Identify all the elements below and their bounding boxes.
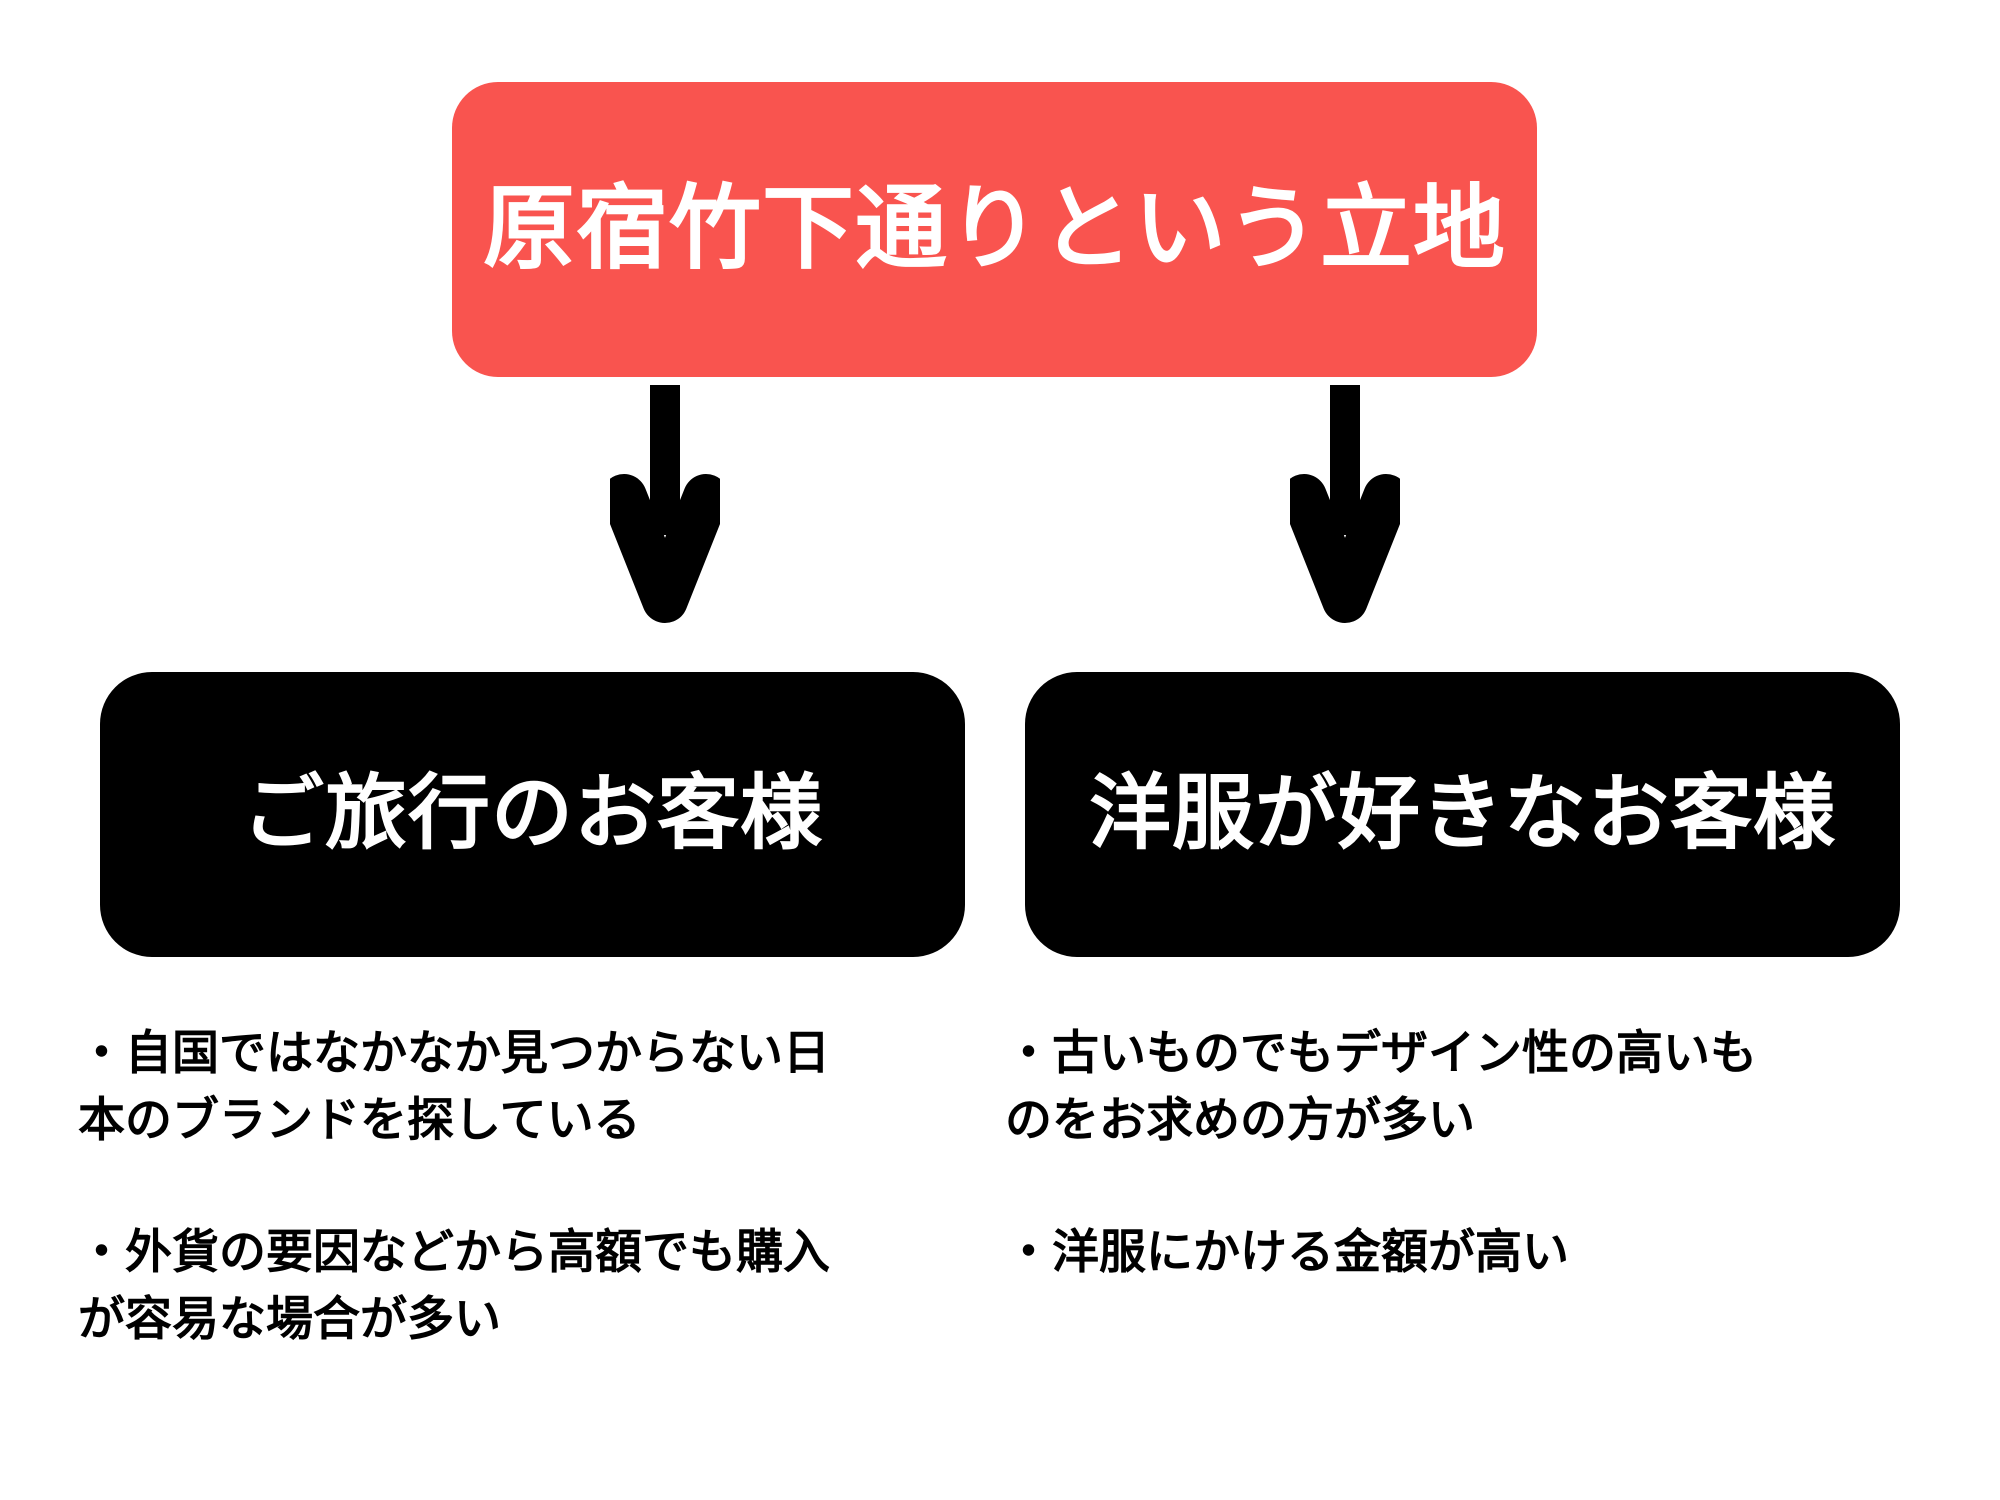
branch-node-travelers: ご旅行のお客様 <box>100 672 965 957</box>
top-node-label: 原宿竹下通りという立地 <box>483 179 1506 280</box>
slide-canvas: 原宿竹下通りという立地 ご旅行のお客様 洋服が好きなお客様 ・自国ではなかなか見… <box>0 0 2000 1500</box>
bullet-item: ・古いものでもデザイン性の高いも のをお求めの方が多い <box>1005 1020 1910 1153</box>
bullet-list-travelers: ・自国ではなかなか見つからない日 本のブランドを探している ・外貨の要因などから… <box>78 1020 983 1353</box>
down-arrow-icon-right <box>1290 385 1400 645</box>
bullet-item: ・洋服にかける金額が高い <box>1005 1219 1910 1286</box>
branch-node-fashion-lovers: 洋服が好きなお客様 <box>1025 672 1900 957</box>
bullet-item: ・外貨の要因などから高額でも購入 が容易な場合が多い <box>78 1219 983 1352</box>
branch-node-label-travelers: ご旅行のお客様 <box>242 769 823 859</box>
down-arrow-icon-left <box>610 385 720 645</box>
bullet-list-fashion-lovers: ・古いものでもデザイン性の高いも のをお求めの方が多い ・洋服にかける金額が高い <box>1005 1020 1910 1286</box>
top-node-location: 原宿竹下通りという立地 <box>452 82 1537 377</box>
bullet-item: ・自国ではなかなか見つからない日 本のブランドを探している <box>78 1020 983 1153</box>
branch-node-label-fashion-lovers: 洋服が好きなお客様 <box>1089 769 1836 859</box>
